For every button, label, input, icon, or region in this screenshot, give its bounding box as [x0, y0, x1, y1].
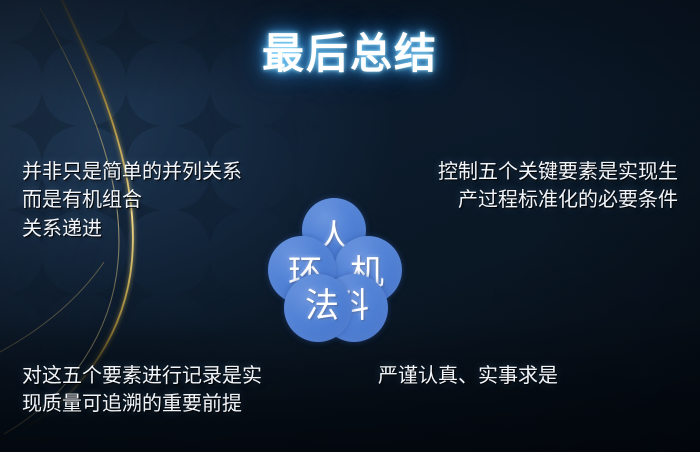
text-block-bottom-left: 对这五个要素进行记录是实 现质量可追溯的重要前提	[22, 362, 262, 419]
diagram-bubble-label: 法	[305, 289, 339, 323]
diagram-bubble-fa: 法	[284, 274, 352, 342]
five-elements-diagram: 人 环 机 法 料	[262, 198, 410, 344]
text-block-top-left: 并非只是简单的并列关系 而是有机组合 关系递进	[22, 158, 242, 243]
slide-title: 最后总结	[0, 20, 700, 81]
text-block-top-right: 控制五个关键要素是实现生 产过程标准化的必要条件	[378, 158, 678, 215]
presentation-slide: 最后总结 并非只是简单的并列关系 而是有机组合 关系递进 控制五个关键要素是实现…	[0, 0, 700, 452]
text-block-bottom-right: 严谨认真、实事求是	[378, 362, 558, 390]
